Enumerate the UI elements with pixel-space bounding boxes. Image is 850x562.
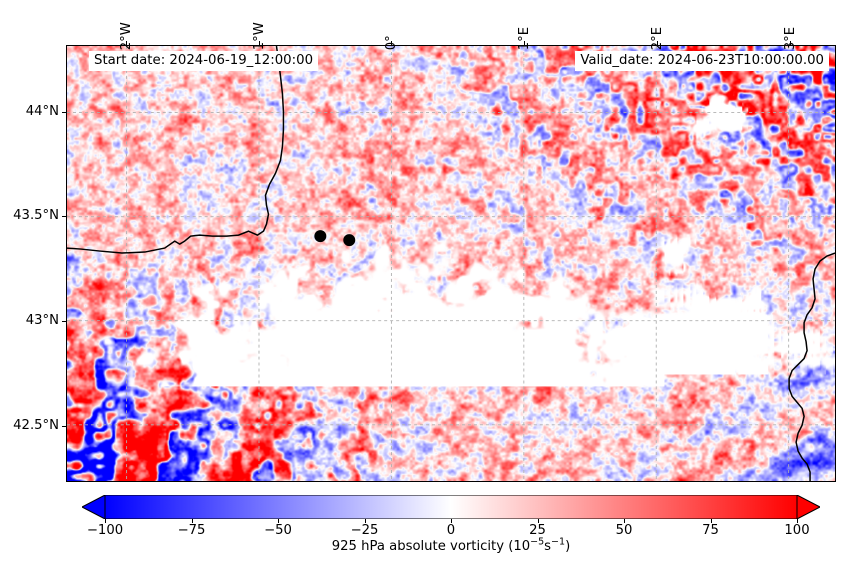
- x-tickmark: [790, 41, 791, 45]
- colorbar-title: 925 hPa absolute vorticity (10−5s−1): [82, 539, 820, 554]
- colorbar-tick-label: −25: [351, 523, 379, 538]
- colorbar-tick-label: 100: [784, 523, 809, 538]
- colorbar[interactable]: −100−75−50−250255075100 925 hPa absolute…: [82, 495, 820, 519]
- x-tickmark: [126, 41, 127, 45]
- x-tick-label: 2°W: [120, 22, 133, 50]
- x-tick-label: 1°W: [252, 22, 265, 50]
- x-tick-label: 3°E: [783, 27, 796, 50]
- colorbar-tick-label: −50: [264, 523, 292, 538]
- colorbar-tick-label: 75: [702, 523, 719, 538]
- vorticity-field-heatmap: [67, 46, 835, 481]
- x-tickmark: [259, 41, 260, 45]
- x-tick-label: 1°E: [518, 27, 531, 50]
- x-tickmark: [524, 41, 525, 45]
- y-tick-label: 43°N: [0, 314, 59, 327]
- colorbar-tick-label: 50: [616, 523, 633, 538]
- figure-canvas: Start date: 2024-06-19_12:00:00 Valid_da…: [0, 0, 850, 562]
- y-tick-label: 42.5°N: [0, 419, 59, 432]
- x-tickmark: [657, 41, 658, 45]
- valid-date-annotation: Valid_date: 2024-06-23T10:00:00.00: [575, 51, 829, 71]
- map-axes[interactable]: Start date: 2024-06-19_12:00:00 Valid_da…: [66, 45, 836, 482]
- x-tickmark: [391, 41, 392, 45]
- x-tick-label: 2°E: [651, 27, 664, 50]
- y-tickmark: [62, 321, 66, 322]
- colorbar-gradient: [82, 495, 820, 519]
- colorbar-tick-label: −75: [178, 523, 206, 538]
- start-date-annotation: Start date: 2024-06-19_12:00:00: [89, 51, 318, 71]
- y-tickmark: [62, 112, 66, 113]
- y-tick-label: 44°N: [0, 105, 59, 118]
- y-tick-label: 43.5°N: [0, 209, 59, 222]
- y-tickmark: [62, 216, 66, 217]
- colorbar-tick-label: −100: [87, 523, 123, 538]
- y-tickmark: [62, 426, 66, 427]
- colorbar-tick-label: 0: [447, 523, 455, 538]
